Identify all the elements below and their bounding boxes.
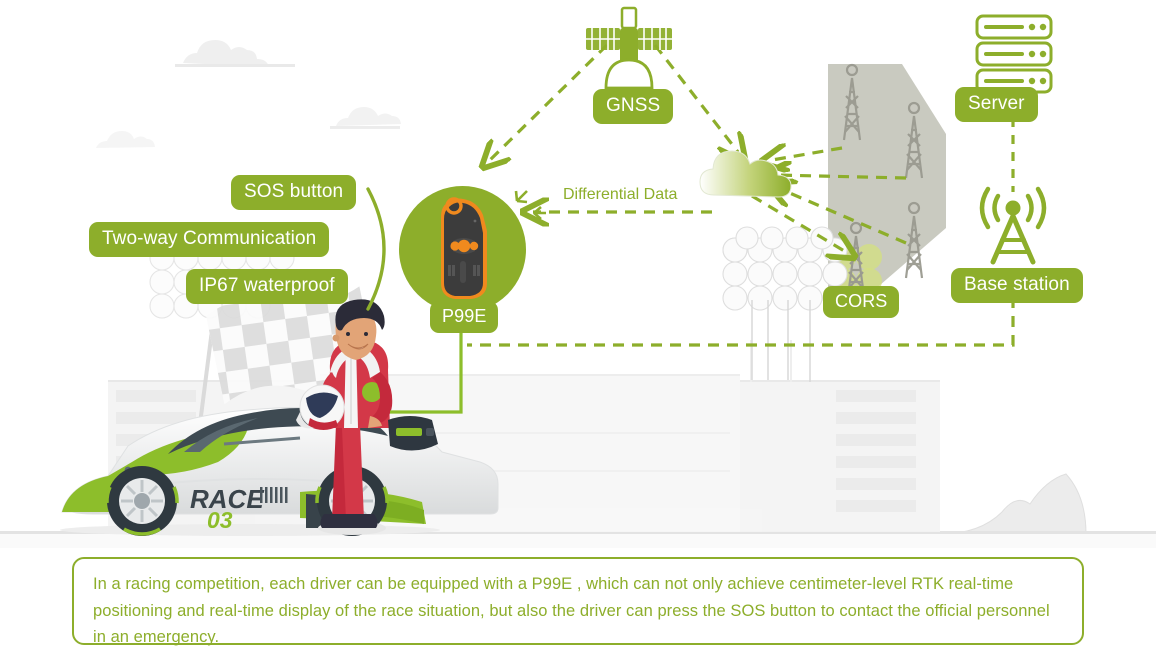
server-rack-icon [977,16,1051,92]
edge-basestation-p99e [467,297,1013,345]
car-brand-text: RACE [190,484,264,514]
cors-tower-icon-2 [906,103,922,178]
handheld-device-icon [435,197,491,301]
decorative-cloud-icon [175,40,295,67]
feature-label-sos-button[interactable]: SOS button [231,175,356,210]
grandstand-center [320,374,740,532]
caption-box: In a racing competition, each driver can… [72,557,1084,645]
car-wheel-front [317,466,387,536]
node-label-base-station[interactable]: Base station [951,268,1083,303]
feature-label-two-way-communication[interactable]: Two-way Communication [89,222,329,257]
grandstand-right [740,340,940,532]
edge-cors1-cloud [772,148,842,160]
caption-text: In a racing competition, each driver can… [93,571,1064,651]
diagram-canvas: RACE 03 [0,0,1156,662]
edge-label-differential-data: Differential Data [563,186,677,204]
decorative-cloud-icon-3 [96,131,155,148]
edge-cors2-cloud [775,175,906,178]
edge-gnss-basestation [490,45,607,160]
satellite-icon [586,8,672,90]
node-label-p99e[interactable]: P99E [430,301,498,333]
decorative-hill [940,474,1086,534]
p99e-device-circle[interactable] [399,186,526,313]
node-label-server[interactable]: Server [955,87,1038,122]
edge-cors3-cloud [778,188,906,243]
node-label-gnss[interactable]: GNSS [593,89,673,124]
car-number-text: 03 [207,507,233,533]
decorative-cloud-icon-2 [330,107,401,129]
driver-illustration [296,299,438,535]
cors-tower-icon-3 [906,203,922,278]
grandstand-left [108,380,320,532]
node-label-cors[interactable]: CORS [823,286,899,318]
cors-tower-icon-1 [844,65,860,140]
race-car-icon: RACE 03 [60,408,498,536]
driver-handheld-device-icon [388,416,438,451]
car-wheel-rear [107,466,177,536]
racing-helmet-icon [296,385,344,430]
edge-p99e-driver [390,327,461,412]
feature-label-ip67-waterproof[interactable]: IP67 waterproof [186,269,348,304]
antenna-tower-icon [982,189,1044,262]
edge-cloud-corsground [752,196,846,252]
cloud-icon [700,151,791,197]
car-barcode-icon [260,487,288,503]
cors-coverage-area [828,64,946,292]
